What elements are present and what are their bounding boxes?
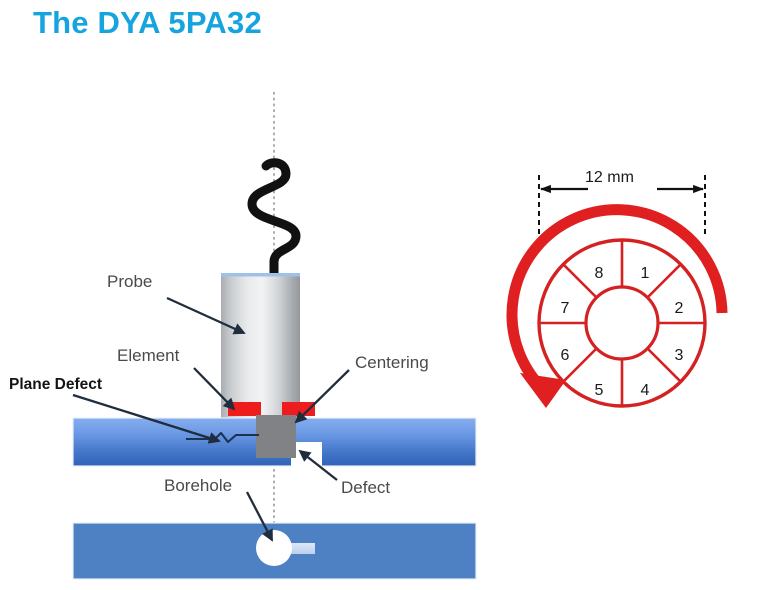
probe-top-edge	[221, 273, 300, 277]
label-defect: Defect	[341, 478, 390, 497]
annular-array-group: 12 mm 1	[512, 169, 722, 408]
segment-label-1: 1	[641, 265, 650, 282]
segment-label-8: 8	[595, 265, 604, 282]
label-borehole: Borehole	[164, 476, 232, 495]
segment-label-3: 3	[675, 347, 684, 364]
probe-body	[221, 273, 300, 418]
label-probe: Probe	[107, 272, 152, 291]
label-element: Element	[117, 346, 180, 365]
leader-centering	[296, 370, 349, 422]
segment-label-2: 2	[675, 300, 684, 317]
segment-label-6: 6	[561, 347, 570, 364]
centering-block	[256, 415, 296, 458]
segment-label-5: 5	[595, 382, 604, 399]
borehole-circle	[256, 530, 292, 566]
probe-cross-section-group: Probe Element Centering Plane Defect Bor…	[9, 92, 476, 579]
segment-label-7: 7	[561, 300, 570, 317]
figure-area: Probe Element Centering Plane Defect Bor…	[0, 70, 773, 590]
label-centering: Centering	[355, 353, 429, 372]
slide-canvas: The DYA 5PA32	[0, 0, 773, 590]
segment-label-4: 4	[641, 382, 650, 399]
ring-inner-circle	[586, 287, 658, 359]
diagram-svg: Probe Element Centering Plane Defect Bor…	[0, 70, 773, 590]
label-plane-defect: Plane Defect	[9, 376, 102, 393]
page-title: The DYA 5PA32	[33, 4, 262, 41]
dimension-label: 12 mm	[585, 169, 634, 186]
